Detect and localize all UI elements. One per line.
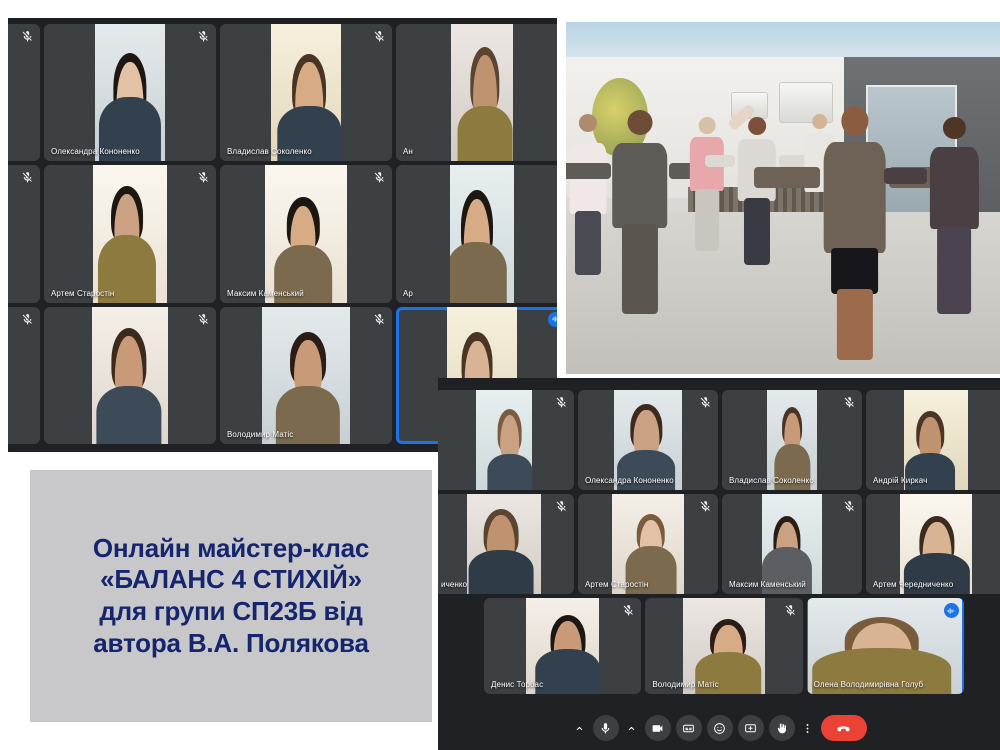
participant-torso bbox=[812, 648, 952, 694]
participant-torso bbox=[775, 444, 810, 490]
mic-muted-icon bbox=[699, 396, 712, 409]
more-vertical-icon bbox=[800, 715, 816, 741]
caption-line-2: «БАЛАНС 4 СТИХІЙ» bbox=[100, 564, 362, 596]
mic-muted-icon bbox=[197, 313, 210, 326]
participant-video bbox=[467, 494, 541, 594]
captions-button[interactable] bbox=[676, 715, 702, 741]
caption-line-3: для групи СП23Б від bbox=[99, 596, 362, 628]
photo-person-left bbox=[605, 110, 674, 314]
participant-torso bbox=[625, 546, 676, 594]
participant-torso bbox=[535, 649, 599, 694]
mic-muted-icon bbox=[373, 30, 386, 43]
participant-video bbox=[904, 390, 969, 490]
participant-video bbox=[476, 390, 533, 490]
participant-video bbox=[612, 494, 683, 594]
mic-muted-icon bbox=[555, 396, 568, 409]
participant-torso bbox=[487, 454, 532, 490]
participant-video bbox=[451, 24, 512, 161]
meeting-control-bar[interactable] bbox=[438, 706, 1000, 750]
mic-muted-icon bbox=[843, 500, 856, 513]
collage-canvas: Олександра КононенкоВладислав СоколенкоА… bbox=[0, 0, 1000, 750]
participant-torso bbox=[450, 242, 507, 303]
photo-person-right bbox=[922, 117, 987, 314]
participant-torso bbox=[905, 453, 955, 490]
participant-tile[interactable] bbox=[8, 24, 40, 161]
participant-video bbox=[767, 390, 817, 490]
caption-title-box: Онлайн майстер-клас«БАЛАНС 4 СТИХІЙ»для … bbox=[30, 470, 432, 722]
participant-video bbox=[762, 494, 821, 594]
more-options-button[interactable] bbox=[800, 715, 816, 741]
participant-tile[interactable]: Олександра Кононенко bbox=[44, 24, 216, 161]
mic-muted-icon bbox=[197, 30, 210, 43]
participant-tile[interactable]: Максим Каменський bbox=[220, 165, 392, 302]
participant-name-label: иченко bbox=[441, 580, 467, 589]
participant-video bbox=[265, 165, 346, 302]
participant-video bbox=[95, 24, 164, 161]
participant-video bbox=[683, 598, 765, 694]
participant-tile[interactable]: Андрій Киркач bbox=[866, 390, 1000, 490]
participant-tile[interactable]: Максим Каменський bbox=[722, 494, 862, 594]
participant-tile[interactable]: Артем Старостін bbox=[578, 494, 718, 594]
present-button[interactable] bbox=[738, 715, 764, 741]
participant-tile[interactable]: Ан bbox=[396, 24, 557, 161]
participant-tile[interactable]: Олена Володимирівна Голуб bbox=[807, 598, 964, 694]
participant-video bbox=[526, 598, 599, 694]
captions-icon bbox=[676, 715, 702, 741]
participant-grid-row-1: Олександра КононенкоВладислав СоколенкоА… bbox=[438, 390, 1000, 490]
participant-grid-row-2: иченкоАртем СтаростінМаксим КаменськийАр… bbox=[438, 494, 1000, 594]
participant-video bbox=[92, 307, 168, 444]
participant-video bbox=[808, 598, 962, 694]
participant-torso bbox=[274, 245, 332, 303]
mic-muted-icon bbox=[784, 604, 797, 617]
participant-tile[interactable] bbox=[8, 165, 40, 302]
mic-muted-icon bbox=[555, 500, 568, 513]
microphone-button[interactable] bbox=[593, 715, 619, 741]
participant-tile[interactable]: Владислав Соколенко bbox=[220, 24, 392, 161]
mic-muted-icon bbox=[373, 171, 386, 184]
participant-torso bbox=[457, 106, 512, 162]
participant-tile[interactable]: иченко bbox=[438, 494, 574, 594]
participant-tile[interactable]: Артем Старостін bbox=[44, 165, 216, 302]
video-meeting-panel-bottom-right: Олександра КононенкоВладислав СоколенкоА… bbox=[438, 378, 1000, 750]
participant-tile[interactable]: Денис Торбас bbox=[484, 598, 641, 694]
caption-line-1: Онлайн майстер-клас bbox=[93, 533, 369, 565]
mic-muted-icon bbox=[843, 396, 856, 409]
photo-person-back-left bbox=[566, 114, 609, 276]
mic-muted-icon bbox=[622, 604, 635, 617]
participant-torso bbox=[276, 386, 340, 444]
chevron-up-icon bbox=[624, 715, 640, 741]
participant-tile[interactable]: Володимир Матіс bbox=[645, 598, 802, 694]
emoji-icon bbox=[707, 715, 733, 741]
caption-line-4: автора В.А. Полякова bbox=[93, 628, 368, 660]
participant-video bbox=[450, 165, 514, 302]
photo-person-center-back bbox=[731, 117, 783, 265]
participant-torso bbox=[762, 547, 812, 594]
participant-torso bbox=[98, 235, 156, 303]
mic-muted-icon bbox=[21, 30, 34, 43]
participant-name-label: Ар bbox=[403, 289, 413, 298]
participant-video bbox=[900, 494, 972, 594]
raise-hand-icon bbox=[769, 715, 795, 741]
participant-tile[interactable]: Владислав Соколенко bbox=[722, 390, 862, 490]
participant-tile[interactable] bbox=[438, 390, 574, 490]
exercise-group-photo bbox=[566, 22, 1000, 374]
participant-video bbox=[262, 307, 350, 444]
mic-muted-icon bbox=[21, 313, 34, 326]
participant-torso bbox=[618, 450, 676, 490]
participant-torso bbox=[278, 106, 341, 161]
participant-tile[interactable]: Олександра Кононенко bbox=[578, 390, 718, 490]
participant-torso bbox=[96, 386, 161, 444]
camera-options-button[interactable] bbox=[624, 715, 640, 741]
present-screen-icon bbox=[738, 715, 764, 741]
participant-grid-row-3: Денис ТорбасВолодимир МатісОлена Володим… bbox=[484, 598, 964, 694]
end-call-icon bbox=[821, 715, 867, 741]
participant-tile[interactable] bbox=[8, 307, 40, 444]
camera-button[interactable] bbox=[645, 715, 671, 741]
speaking-indicator-icon bbox=[548, 312, 557, 327]
microphone-icon bbox=[593, 715, 619, 741]
mic-muted-icon bbox=[373, 313, 386, 326]
video-camera-icon bbox=[645, 715, 671, 741]
participant-torso bbox=[469, 550, 534, 594]
mic-options-button[interactable] bbox=[572, 715, 588, 741]
reactions-button[interactable] bbox=[707, 715, 733, 741]
participant-video bbox=[271, 24, 342, 161]
participant-torso bbox=[904, 553, 970, 594]
participant-tile[interactable]: Артем Чередниченко bbox=[866, 494, 1000, 594]
participant-video bbox=[93, 165, 167, 302]
photo-person-front-center bbox=[813, 106, 895, 359]
photo-person-back-mid-left bbox=[683, 117, 731, 251]
participant-tile[interactable] bbox=[44, 307, 216, 444]
participant-video bbox=[614, 390, 683, 490]
speaking-indicator-icon bbox=[944, 603, 959, 618]
raise-hand-button[interactable] bbox=[769, 715, 795, 741]
chevron-up-icon bbox=[572, 715, 588, 741]
participant-name-label: Ан bbox=[403, 147, 413, 156]
mic-muted-icon bbox=[197, 171, 210, 184]
leave-call-button[interactable] bbox=[821, 715, 867, 741]
participant-torso bbox=[696, 652, 762, 694]
participant-torso bbox=[99, 97, 161, 161]
mic-muted-icon bbox=[21, 171, 34, 184]
participant-tile[interactable]: Ар bbox=[396, 165, 557, 302]
mic-muted-icon bbox=[699, 500, 712, 513]
participant-tile[interactable]: Володимир Матіс bbox=[220, 307, 392, 444]
